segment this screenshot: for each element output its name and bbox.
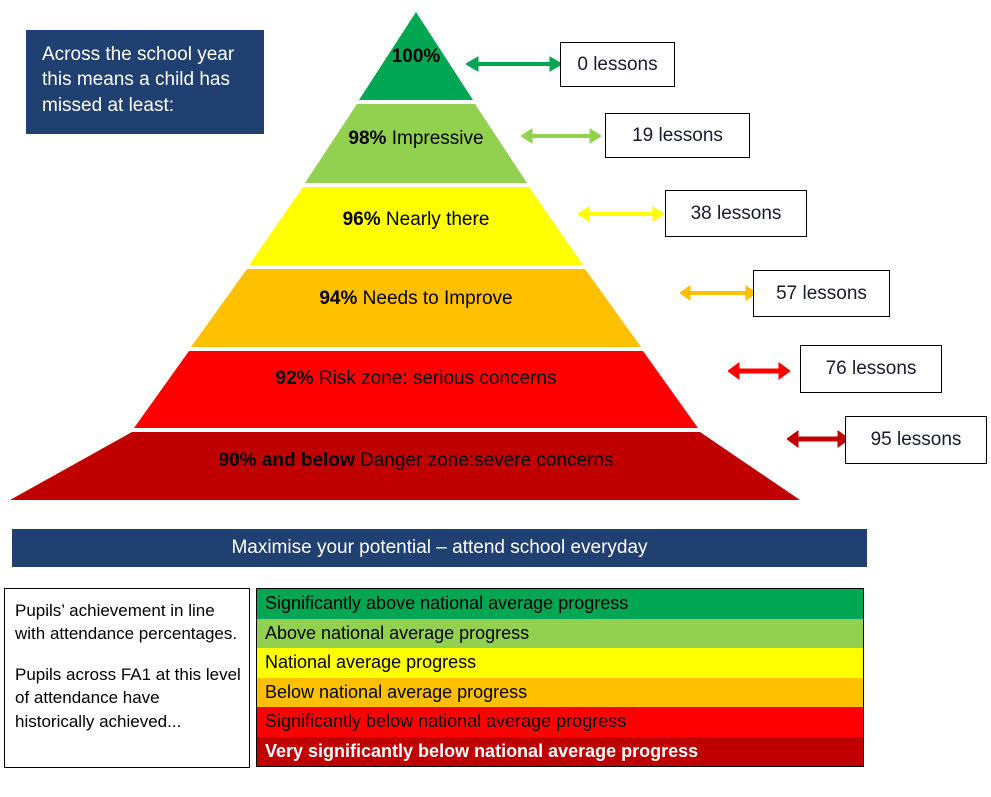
arrow-to-57-lessons — [680, 281, 756, 305]
arrow-to-38-lessons — [578, 202, 664, 226]
tier-label-98: 98% Impressive — [348, 128, 483, 150]
achievement-note-box: Pupils’ achievement in line with attenda… — [4, 588, 250, 768]
arrow-to-0-lessons — [466, 52, 562, 76]
achievement-note-paragraph-2: Pupils across FA1 at this level of atten… — [15, 663, 241, 733]
tier-text-90: Danger zone:severe concerns — [355, 450, 614, 471]
motivational-banner: Maximise your potential – attend school … — [12, 529, 867, 567]
arrow-to-76-lessons — [728, 359, 790, 383]
tier-percent-100: 100% — [392, 46, 441, 67]
legend-row: Significantly above national average pro… — [257, 589, 863, 619]
legend-row: National average progress — [257, 648, 863, 678]
lesson-box-2: 38 lessons — [665, 190, 807, 237]
lesson-box-3: 57 lessons — [753, 270, 890, 317]
legend-row-label: Above national average progress — [265, 623, 529, 644]
lesson-box-4-label: 76 lessons — [826, 358, 917, 380]
tier-percent-90: 90% and below — [219, 450, 355, 471]
legend-row: Above national average progress — [257, 619, 863, 649]
tier-label-100: 100% — [392, 46, 441, 68]
tier-text-92: Risk zone: serious concerns — [314, 368, 557, 389]
tier-text-96: Nearly there — [381, 209, 490, 230]
lesson-box-0-label: 0 lessons — [577, 54, 657, 76]
lesson-box-2-label: 38 lessons — [691, 203, 782, 225]
tier-label-94: 94% Needs to Improve — [319, 288, 512, 310]
legend-row: Very significantly below national averag… — [257, 737, 863, 767]
legend-row: Below national average progress — [257, 678, 863, 708]
lesson-box-1: 19 lessons — [605, 113, 750, 158]
tier-label-90: 90% and below Danger zone:severe concern… — [219, 450, 614, 472]
legend-row-label: Below national average progress — [265, 682, 527, 703]
legend-row-label: Significantly below national average pro… — [265, 711, 626, 732]
tier-percent-96: 96% — [343, 209, 381, 230]
achievement-note-paragraph-1: Pupils’ achievement in line with attenda… — [15, 599, 241, 646]
tier-text-94: Needs to Improve — [357, 288, 512, 309]
tier-label-96: 96% Nearly there — [343, 209, 490, 231]
arrow-to-19-lessons — [521, 124, 601, 148]
lesson-box-4: 76 lessons — [800, 345, 942, 393]
tier-percent-92: 92% — [276, 368, 314, 389]
lesson-box-5: 95 lessons — [845, 416, 987, 464]
attendance-pyramid: 100% 98% Impressive 96% Nearly there 94%… — [0, 0, 830, 510]
legend-row-label: Significantly above national average pro… — [265, 593, 628, 614]
tier-text-98: Impressive — [386, 128, 483, 149]
lesson-box-5-label: 95 lessons — [871, 429, 962, 451]
lesson-box-3-label: 57 lessons — [776, 283, 867, 305]
note-spacer — [15, 646, 241, 663]
arrow-to-95-lessons — [787, 427, 849, 451]
motivational-banner-text: Maximise your potential – attend school … — [231, 537, 647, 559]
progress-legend: Significantly above national average pro… — [256, 588, 864, 767]
tier-percent-98: 98% — [348, 128, 386, 149]
legend-row-label: Very significantly below national averag… — [265, 741, 698, 762]
lesson-box-0: 0 lessons — [560, 42, 675, 87]
tier-percent-94: 94% — [319, 288, 357, 309]
lesson-box-1-label: 19 lessons — [632, 125, 723, 147]
legend-row-label: National average progress — [265, 652, 476, 673]
tier-label-92: 92% Risk zone: serious concerns — [276, 368, 557, 390]
pyramid-shapes — [0, 0, 830, 510]
legend-row: Significantly below national average pro… — [257, 707, 863, 737]
